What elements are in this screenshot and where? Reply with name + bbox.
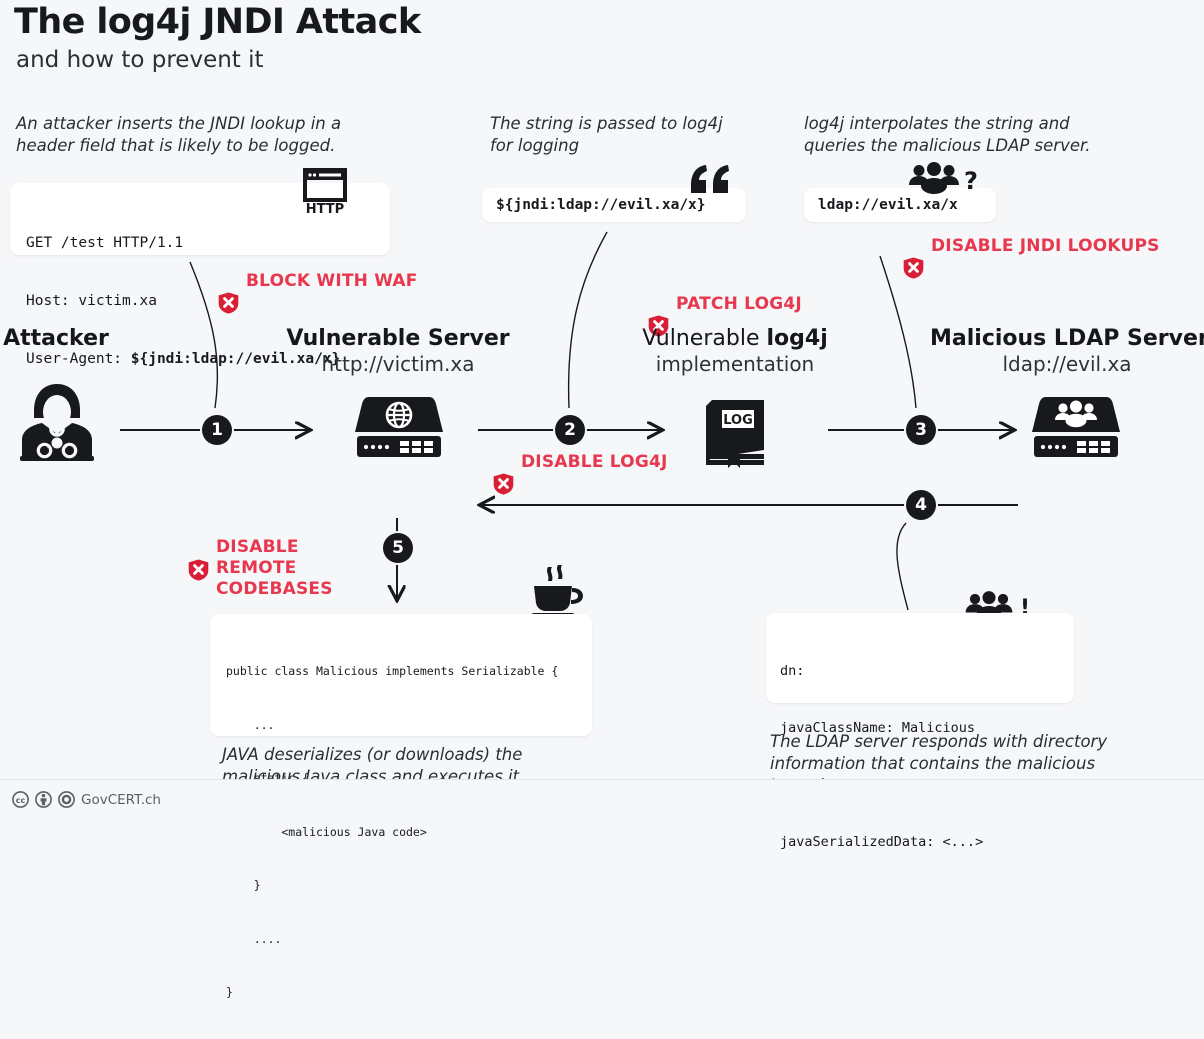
step-circle-2: 2 [555, 415, 585, 445]
java-class-codebox: public class Malicious implements Serial… [210, 614, 592, 736]
step-circle-3: 3 [906, 415, 936, 445]
step-circle-1: 1 [202, 415, 232, 445]
footer-attribution: GovCERT.ch [81, 792, 161, 808]
ldap-response-codebox: dn: javaClassName: Malicious javaCodebas… [766, 613, 1074, 703]
svg-text:cc: cc [16, 796, 26, 805]
curve-to-step-1 [190, 262, 217, 408]
ldap-resp-line-4: javaSerializedData: <...> [780, 833, 1062, 852]
step-circle-4: 4 [906, 490, 936, 520]
java-line-2: ... [226, 718, 582, 734]
ldap-resp-line-1: dn: [780, 662, 1062, 681]
cc-nd-icon [58, 791, 75, 808]
curve-to-step-2 [569, 232, 607, 408]
java-line-6: .... [226, 932, 582, 948]
curve-to-step-3 [880, 256, 916, 408]
java-line-4: <malicious Java code> [226, 825, 582, 841]
footer-bar [0, 779, 1204, 814]
footer: cc GovCERT.ch [12, 791, 161, 808]
java-coffee-icon [528, 563, 586, 617]
java-line-1: public class Malicious implements Serial… [226, 664, 582, 680]
step-circle-5: 5 [383, 533, 413, 563]
java-line-7: } [226, 985, 582, 1001]
java-line-5: } [226, 878, 582, 894]
cc-icon: cc [12, 791, 29, 808]
cc-by-icon [35, 791, 52, 808]
curve-from-step-4 [897, 523, 908, 610]
